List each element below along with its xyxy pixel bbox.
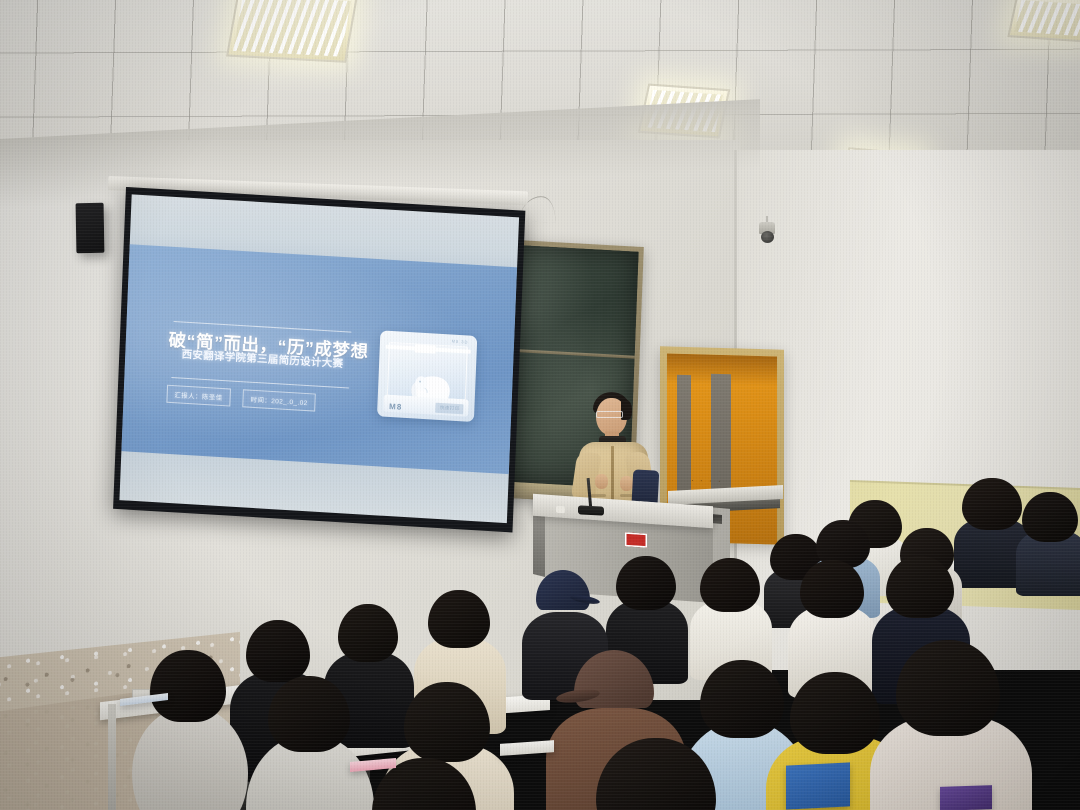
door-grey-panel-1 [677, 374, 691, 500]
student-mid-3-navy-cap [534, 570, 594, 646]
student-hair [596, 738, 716, 810]
student-hair [962, 478, 1022, 530]
ceiling-light-1 [226, 0, 358, 63]
podium-small-item [556, 506, 565, 513]
student-front-2-grey-hoodie [268, 676, 352, 782]
student-hair [790, 672, 880, 754]
3d-printer-illustration: M8 3D M8 快速打印 [377, 330, 477, 422]
student-hair [404, 682, 490, 762]
slide-tag-row: 汇报人：陈圣佳 时间：202_.0_.02 [166, 385, 316, 412]
student-hair [616, 556, 676, 610]
student-hair [700, 660, 784, 738]
student-hair [886, 556, 954, 618]
student-mid-8 [886, 556, 956, 644]
security-camera-icon [757, 222, 777, 244]
student-mid-1 [700, 558, 762, 638]
student-hair [896, 640, 1000, 736]
printer-top-mark: M8 3D [452, 339, 469, 345]
student-hair [1022, 492, 1078, 542]
student-hair [268, 676, 350, 752]
camera-lens [761, 231, 774, 243]
student-mid-2 [616, 556, 678, 636]
projector-screen: 破“简”而出，“历”成梦想 西安翻译学院第三届简历设计大赛 汇报人：陈圣佳 时间… [113, 187, 525, 532]
student-front-7 [896, 640, 1000, 768]
student-mid-5 [338, 604, 400, 686]
slide-presenter-tag: 汇报人：陈圣佳 [166, 385, 231, 407]
student-hair [246, 620, 310, 682]
student-hair [800, 560, 864, 618]
student-front-8-closest [596, 738, 716, 810]
student-hair [150, 650, 226, 722]
presenter-right-hand [620, 476, 633, 491]
slide-canvas: 破“简”而出，“历”成梦想 西安翻译学院第三届简历设计大赛 汇报人：陈圣佳 时间… [121, 245, 517, 474]
student-back-3 [1022, 492, 1080, 566]
glasses-icon [596, 411, 623, 418]
printer-model-label: M8 [389, 401, 402, 411]
student-hair [700, 558, 760, 612]
screen-surface: 破“简”而出，“历”成梦想 西安翻译学院第三届简历设计大赛 汇报人：陈圣佳 时间… [119, 194, 519, 523]
student-hair [428, 590, 490, 648]
slide-date-tag: 时间：202_.0_.02 [242, 389, 316, 411]
ceiling-light-4 [1007, 0, 1080, 42]
microphone-base [578, 505, 604, 515]
classroom-photo: 破“简”而出，“历”成梦想 西安翻译学院第三届简历设计大赛 汇报人：陈圣佳 时间… [0, 0, 1080, 810]
desk-purple-item [940, 785, 992, 810]
door-engraved-text: ・ ・ ・ ・ [690, 478, 723, 485]
desk-leg-a [108, 704, 116, 810]
navy-cap-icon [536, 570, 590, 610]
desk-blue-folder [786, 762, 850, 809]
student-back-2 [962, 478, 1024, 556]
student-mid-7 [800, 560, 866, 644]
wall-speaker-left-icon [76, 203, 105, 253]
student-hair [338, 604, 398, 662]
printer-head [415, 344, 437, 353]
printer-badge: 快速打印 [436, 402, 464, 414]
podium-red-sticker [625, 532, 647, 548]
student-mid-4 [428, 590, 492, 674]
presenter-left-hand [595, 474, 608, 489]
